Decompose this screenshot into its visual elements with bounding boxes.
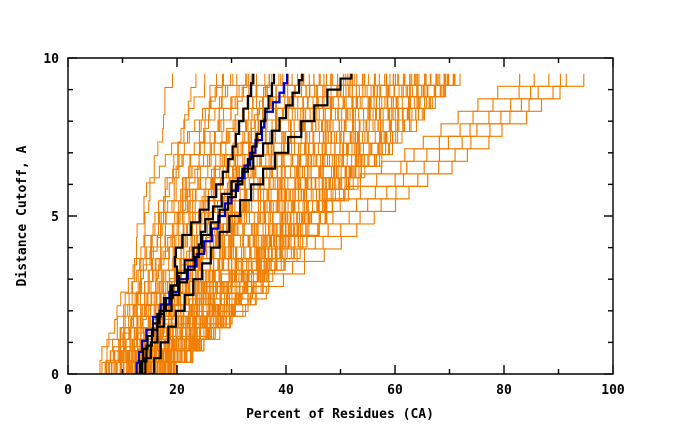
y-tick-label: 5: [51, 210, 59, 225]
y-axis-label: Distance Cutoff, A: [15, 145, 30, 286]
x-tick-label: 80: [496, 383, 512, 398]
y-tick-label: 10: [43, 52, 59, 67]
chart-page: T0991-D1 0204060801000510 Percent of Res…: [0, 0, 680, 440]
distance-cutoff-plot: 0204060801000510 Percent of Residues (CA…: [0, 0, 680, 440]
x-tick-label: 20: [169, 383, 185, 398]
x-tick-label: 60: [387, 383, 403, 398]
x-axis-label: Percent of Residues (CA): [246, 407, 434, 422]
x-tick-label: 100: [601, 383, 625, 398]
y-tick-label: 0: [51, 368, 59, 383]
x-tick-label: 40: [278, 383, 294, 398]
x-tick-label: 0: [64, 383, 72, 398]
